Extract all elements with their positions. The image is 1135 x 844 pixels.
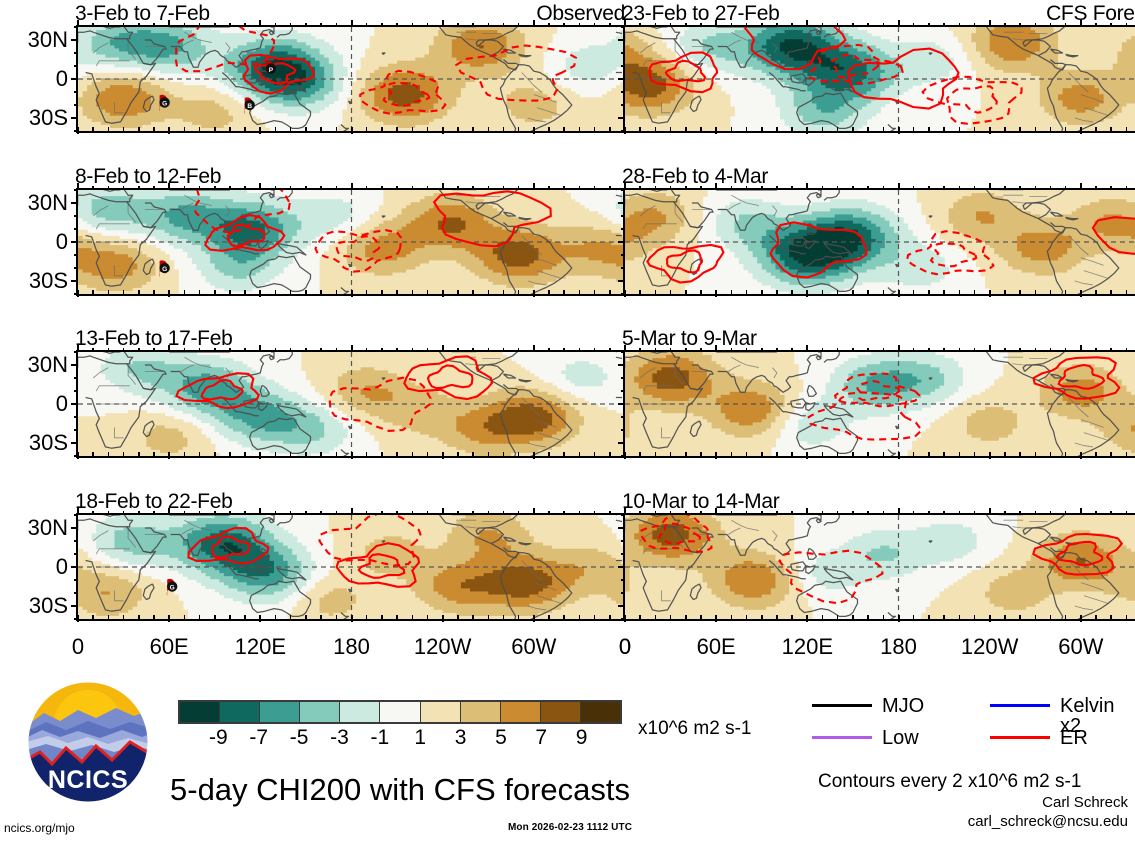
axis-tick [244, 615, 246, 619]
axis-tick [518, 186, 520, 190]
axis-tick [594, 290, 596, 294]
legend-line-er [990, 736, 1050, 739]
axis-tick [184, 186, 186, 190]
axis-tick [852, 186, 854, 190]
axis-tick [275, 23, 277, 27]
axis-tick [959, 511, 961, 515]
axis-tick [1095, 348, 1097, 352]
axis-tick [92, 452, 94, 456]
axis-tick [92, 290, 94, 294]
axis-tick [533, 20, 535, 27]
axis-tick [928, 127, 930, 131]
axis-tick [184, 127, 186, 131]
axis-tick [974, 290, 976, 294]
axis-tick [153, 23, 155, 27]
map-panel-r3c1[interactable] [76, 350, 627, 458]
author-name: Carl Schreck [822, 795, 1128, 811]
axis-tick [214, 348, 216, 352]
axis-tick [290, 348, 292, 352]
axis-tick [184, 452, 186, 456]
axis-tick [472, 127, 474, 131]
axis-tick [746, 127, 748, 131]
map-panel-r1c1[interactable]: GPB [76, 25, 627, 133]
axis-tick [442, 615, 444, 622]
axis-tick [412, 290, 414, 294]
axis-tick [503, 615, 505, 619]
map-panel-r2c2[interactable] [623, 188, 1135, 296]
axis-tick [715, 20, 717, 27]
axis-tick [457, 511, 459, 515]
axis-tick [883, 186, 885, 190]
colorbar-tick-label: -9 [198, 727, 238, 748]
x-axis-label: 180 [854, 636, 944, 658]
axis-tick [776, 511, 778, 515]
axis-tick [472, 186, 474, 190]
colorbar-tick-label: 7 [521, 727, 561, 748]
axis-tick [655, 348, 657, 352]
axis-tick [943, 186, 945, 190]
axis-tick [366, 511, 368, 515]
axis-tick [74, 130, 78, 132]
axis-tick [898, 20, 900, 27]
axis-tick [670, 23, 672, 27]
x-axis-label: 180 [307, 636, 397, 658]
axis-tick [959, 452, 961, 456]
axis-tick [806, 290, 808, 297]
axis-tick [685, 23, 687, 27]
axis-tick [366, 348, 368, 352]
axis-tick [275, 348, 277, 352]
axis-tick [71, 202, 78, 204]
axis-tick [670, 511, 672, 515]
axis-tick [928, 186, 930, 190]
axis-tick [366, 290, 368, 294]
axis-tick [427, 23, 429, 27]
axis-tick [290, 511, 292, 515]
axis-tick [305, 290, 307, 294]
axis-tick [731, 348, 733, 352]
axis-tick [621, 514, 625, 516]
axis-tick [1050, 127, 1052, 131]
axis-tick [1126, 23, 1128, 27]
axis-tick [214, 23, 216, 27]
axis-tick [609, 511, 611, 515]
axis-tick [928, 23, 930, 27]
axis-tick [503, 348, 505, 352]
axis-tick [488, 290, 490, 294]
colorbar-cell [541, 702, 581, 722]
axis-tick [700, 452, 702, 456]
axis-tick [746, 511, 748, 515]
axis-tick [1095, 615, 1097, 619]
axis-tick [442, 290, 444, 297]
axis-tick [563, 23, 565, 27]
axis-tick [336, 348, 338, 352]
axis-tick [305, 127, 307, 131]
axis-tick [229, 452, 231, 456]
axis-tick [974, 452, 976, 456]
axis-tick [336, 290, 338, 294]
axis-tick [412, 452, 414, 456]
axis-tick [74, 215, 78, 217]
axis-tick [123, 511, 125, 515]
axis-tick [563, 348, 565, 352]
axis-tick [244, 186, 246, 190]
axis-tick [1050, 290, 1052, 294]
axis-tick [898, 508, 900, 515]
axis-tick [259, 20, 261, 27]
axis-tick [488, 452, 490, 456]
axis-tick [700, 615, 702, 619]
axis-tick [867, 290, 869, 294]
axis-tick [214, 511, 216, 515]
axis-tick [472, 23, 474, 27]
axis-tick [883, 127, 885, 131]
axis-tick [579, 511, 581, 515]
axis-tick [1080, 20, 1082, 27]
axis-tick [806, 183, 808, 190]
axis-tick [618, 202, 625, 204]
axis-tick [412, 23, 414, 27]
axis-tick [184, 23, 186, 27]
axis-tick [396, 348, 398, 352]
colorbar-tick-label: 3 [441, 727, 481, 748]
axis-tick [989, 290, 991, 297]
axis-tick [883, 511, 885, 515]
y-axis-label: 30S [0, 595, 68, 617]
axis-tick [548, 290, 550, 294]
axis-tick [518, 290, 520, 294]
axis-tick [168, 345, 170, 352]
axis-tick [74, 553, 78, 555]
axis-tick [275, 290, 277, 294]
axis-tick [1019, 23, 1021, 27]
axis-tick [336, 452, 338, 456]
axis-tick [609, 290, 611, 294]
axis-tick [913, 127, 915, 131]
axis-tick [184, 290, 186, 294]
axis-tick [731, 452, 733, 456]
axis-tick [108, 127, 110, 131]
axis-tick [639, 186, 641, 190]
axis-tick [898, 452, 900, 459]
axis-tick [472, 290, 474, 294]
axis-tick [74, 52, 78, 54]
axis-tick [1065, 23, 1067, 27]
axis-tick [746, 186, 748, 190]
axis-tick [472, 615, 474, 619]
axis-tick [74, 455, 78, 457]
axis-tick [1035, 348, 1037, 352]
x-axis-label: 0 [33, 636, 123, 658]
axis-tick [442, 508, 444, 515]
axis-tick [806, 452, 808, 459]
axis-tick [1110, 452, 1112, 456]
axis-tick [913, 348, 915, 352]
axis-tick [214, 127, 216, 131]
axis-tick [427, 186, 429, 190]
axis-tick [685, 290, 687, 294]
axis-tick [776, 127, 778, 131]
axis-tick [229, 23, 231, 27]
colorbar-cell [220, 702, 260, 722]
axis-tick [533, 452, 535, 459]
axis-tick [594, 511, 596, 515]
axis-tick [852, 348, 854, 352]
axis-tick [123, 348, 125, 352]
y-axis-label: 30S [0, 270, 68, 292]
axis-tick [123, 23, 125, 27]
axis-tick [1110, 186, 1112, 190]
axis-tick [837, 615, 839, 619]
axis-tick [621, 130, 625, 132]
map-panel-r2c1[interactable]: G [76, 188, 627, 296]
axis-tick [153, 290, 155, 294]
axis-tick [74, 377, 78, 379]
axis-tick [290, 186, 292, 190]
ncics-logo[interactable]: NCICS [26, 680, 150, 804]
axis-tick [1080, 183, 1082, 190]
axis-tick [655, 186, 657, 190]
axis-tick [427, 511, 429, 515]
axis-tick [366, 615, 368, 619]
axis-tick [457, 452, 459, 456]
axis-tick [92, 348, 94, 352]
axis-tick [822, 615, 824, 619]
y-axis-label: 0 [0, 556, 68, 578]
axis-tick [822, 127, 824, 131]
axis-tick [594, 452, 596, 456]
axis-tick [852, 23, 854, 27]
axis-tick [74, 579, 78, 581]
axis-tick [138, 23, 140, 27]
axis-tick [244, 23, 246, 27]
axis-tick [123, 186, 125, 190]
axis-tick [670, 127, 672, 131]
ncics-logo-graphic: NCICS [26, 680, 150, 804]
y-axis-label: 30N [0, 517, 68, 539]
axis-tick [1126, 290, 1128, 294]
axis-tick [533, 345, 535, 352]
axis-tick [1035, 452, 1037, 456]
axis-tick [381, 127, 383, 131]
axis-tick [746, 290, 748, 294]
legend-label-er: ER [1060, 728, 1088, 748]
axis-tick [1004, 348, 1006, 352]
axis-tick [621, 26, 625, 28]
axis-tick [1019, 186, 1021, 190]
axis-tick [1019, 615, 1021, 619]
axis-tick [621, 553, 625, 555]
axis-tick [822, 23, 824, 27]
svg-text:P: P [269, 67, 274, 74]
axis-tick [1126, 348, 1128, 352]
axis-tick [1019, 127, 1021, 131]
axis-tick [1065, 511, 1067, 515]
axis-tick [639, 348, 641, 352]
axis-tick [928, 511, 930, 515]
axis-tick [108, 348, 110, 352]
axis-tick [700, 186, 702, 190]
axis-tick [244, 511, 246, 515]
axis-tick [396, 511, 398, 515]
y-axis-label: 30N [0, 29, 68, 51]
axis-tick [1095, 23, 1097, 27]
axis-tick [320, 511, 322, 515]
axis-tick [883, 348, 885, 352]
axis-tick [533, 508, 535, 515]
axis-tick [989, 345, 991, 352]
axis-tick [959, 23, 961, 27]
axis-tick [700, 511, 702, 515]
x-axis-label: 120W [398, 636, 488, 658]
axis-tick [943, 511, 945, 515]
axis-tick [731, 615, 733, 619]
axis-tick [1095, 452, 1097, 456]
axis-tick [74, 351, 78, 353]
axis-tick [621, 267, 625, 269]
website-link[interactable]: ncics.org/mjo [4, 822, 75, 835]
axis-tick [518, 615, 520, 619]
axis-tick [153, 511, 155, 515]
axis-tick [74, 65, 78, 67]
axis-tick [1004, 23, 1006, 27]
axis-tick [898, 290, 900, 297]
axis-tick [1110, 290, 1112, 294]
axis-tick [548, 615, 550, 619]
axis-tick [123, 452, 125, 456]
axis-tick [351, 345, 353, 352]
axis-tick [822, 348, 824, 352]
axis-tick [1050, 23, 1052, 27]
axis-tick [579, 615, 581, 619]
axis-tick [700, 290, 702, 294]
axis-tick [138, 127, 140, 131]
axis-tick [1080, 508, 1082, 515]
axis-tick [366, 186, 368, 190]
axis-tick [618, 39, 625, 41]
axis-tick [336, 23, 338, 27]
axis-tick [898, 127, 900, 134]
axis-tick [503, 511, 505, 515]
axis-tick [381, 348, 383, 352]
axis-tick [229, 290, 231, 294]
axis-tick [351, 290, 353, 297]
axis-tick [1126, 186, 1128, 190]
axis-tick [199, 290, 201, 294]
map-panel-r4c1[interactable]: G [76, 513, 627, 621]
axis-tick [412, 127, 414, 131]
axis-tick [618, 442, 625, 444]
map-panel-r4c2[interactable] [623, 513, 1135, 621]
axis-tick [715, 615, 717, 622]
axis-tick [761, 348, 763, 352]
axis-tick [761, 290, 763, 294]
axis-tick [199, 615, 201, 619]
axis-tick [71, 527, 78, 529]
axis-tick [1095, 127, 1097, 131]
axis-tick [618, 403, 625, 405]
axis-tick [92, 23, 94, 27]
axis-tick [989, 127, 991, 134]
axis-tick [74, 254, 78, 256]
axis-tick [776, 348, 778, 352]
axis-tick [685, 127, 687, 131]
axis-tick [244, 348, 246, 352]
axis-tick [621, 377, 625, 379]
axis-tick [351, 20, 353, 27]
axis-tick [639, 290, 641, 294]
axis-tick [959, 186, 961, 190]
axis-tick [168, 615, 170, 622]
axis-tick [621, 618, 625, 620]
axis-tick [259, 345, 261, 352]
axis-tick [989, 452, 991, 459]
axis-tick [138, 511, 140, 515]
axis-tick [503, 23, 505, 27]
axis-tick [761, 127, 763, 131]
axis-tick [959, 615, 961, 619]
axis-tick [715, 127, 717, 134]
axis-tick [427, 615, 429, 619]
colorbar-tick-label: 5 [481, 727, 521, 748]
axis-tick [74, 416, 78, 418]
axis-tick [867, 348, 869, 352]
map-panel-r1c2[interactable] [623, 25, 1135, 133]
axis-tick [548, 23, 550, 27]
axis-tick [396, 615, 398, 619]
axis-tick [1080, 615, 1082, 622]
axis-tick [563, 127, 565, 131]
axis-tick [396, 127, 398, 131]
colorbar-cell [260, 702, 300, 722]
axis-tick [621, 293, 625, 295]
axis-tick [670, 452, 672, 456]
axis-tick [761, 511, 763, 515]
axis-tick [442, 127, 444, 134]
axis-tick [791, 127, 793, 131]
axis-tick [837, 186, 839, 190]
axis-tick [351, 452, 353, 459]
axis-tick [715, 290, 717, 297]
axis-tick [791, 348, 793, 352]
map-panel-r3c2[interactable] [623, 350, 1135, 458]
axis-tick [138, 615, 140, 619]
axis-tick [913, 290, 915, 294]
axis-tick [621, 91, 625, 93]
axis-tick [1065, 186, 1067, 190]
axis-tick [320, 290, 322, 294]
axis-tick [563, 290, 565, 294]
axis-tick [336, 615, 338, 619]
axis-tick [913, 615, 915, 619]
axis-tick [989, 508, 991, 515]
y-axis-label: 30N [0, 192, 68, 214]
generation-timestamp: Mon 2026-02-23 1112 UTC [508, 822, 632, 833]
axis-tick [533, 290, 535, 297]
axis-tick [621, 455, 625, 457]
colorbar-tick-label: -3 [319, 727, 359, 748]
x-axis-label: 60E [671, 636, 761, 658]
axis-tick [503, 186, 505, 190]
axis-tick [320, 23, 322, 27]
axis-tick [71, 566, 78, 568]
axis-tick [305, 23, 307, 27]
axis-tick [822, 290, 824, 294]
axis-tick [138, 186, 140, 190]
axis-tick [168, 508, 170, 515]
axis-tick [867, 452, 869, 456]
